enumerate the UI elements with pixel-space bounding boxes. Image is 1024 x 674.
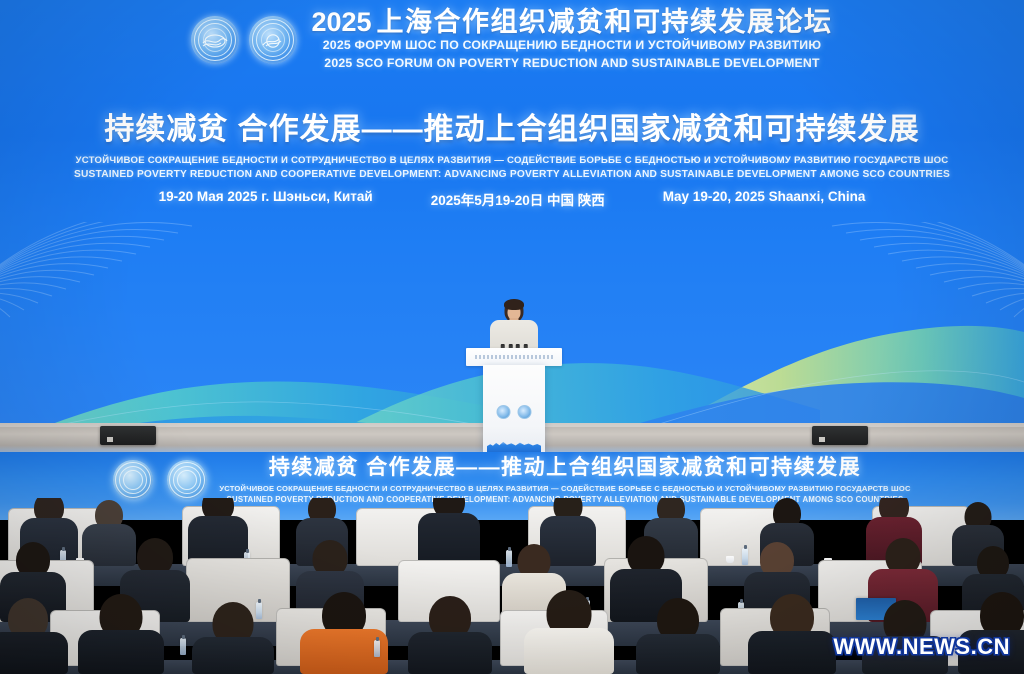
- audience-member: [188, 498, 248, 566]
- header-emblems: [191, 16, 297, 64]
- person-body: [748, 631, 836, 674]
- person-body: [408, 632, 492, 674]
- person-body: [192, 637, 274, 674]
- date-ru: 19-20 Мая 2025 г. Шэньси, Китай: [159, 189, 373, 209]
- lower-banner-emblems: [113, 460, 207, 500]
- audience-member: [300, 592, 388, 674]
- person-body: [78, 630, 164, 674]
- stage-speaker-box-right: [812, 426, 868, 445]
- audience-member: [192, 602, 274, 674]
- photo-canvas: 2025上海合作组织减贫和可持续发展论坛 2025 ФОРУМ ШОС ПО С…: [0, 0, 1024, 674]
- audience-member: [408, 596, 492, 674]
- podium-sco-emblem-icon: [497, 405, 511, 419]
- speaker-at-podium: [466, 300, 562, 452]
- lower-sco-emblem-icon: [113, 460, 153, 500]
- podium: [483, 365, 545, 452]
- date-en: May 19-20, 2025 Shaanxi, China: [663, 189, 866, 209]
- audience-member: [748, 594, 836, 674]
- header-title-ru: 2025 ФОРУМ ШОС ПО СОКРАЩЕНИЮ БЕДНОСТИ И …: [311, 37, 832, 55]
- person-body: [636, 634, 720, 674]
- led-header: 2025上海合作组织减贫和可持续发展论坛 2025 ФОРУМ ШОС ПО С…: [0, 8, 1024, 86]
- header-title-cn: 2025上海合作组织减贫和可持续发展论坛: [311, 8, 832, 37]
- podium-nameplate: [466, 348, 562, 366]
- stage-speaker-box-left: [100, 426, 156, 445]
- podium-forum-emblem-icon: [518, 405, 532, 419]
- person-body: [0, 632, 68, 674]
- lower-banner-theme-cn: 持续减贫 合作发展——推动上合组织国家减贫和可持续发展: [219, 456, 910, 480]
- sco-emblem-icon: [191, 16, 239, 64]
- news-watermark: WWW.NEWS.CN: [833, 634, 1010, 660]
- header-title-cn-text: 上海合作组织减贫和可持续发展论坛: [377, 7, 833, 37]
- lower-banner-theme-ru: УСТОЙЧИВОЕ СОКРАЩЕНИЕ БЕДНОСТИ И СОТРУДН…: [219, 484, 910, 493]
- water-bottle: [180, 638, 186, 655]
- forum-emblem-icon: [249, 16, 297, 64]
- led-theme-block: 持续减贫 合作发展——推动上合组织国家减贫和可持续发展 УСТОЙЧИВОЕ С…: [0, 112, 1024, 209]
- podium-skyline-graphic: [487, 439, 541, 452]
- audience-member: [78, 594, 164, 674]
- tea-cup: [726, 556, 734, 563]
- header-title-year: 2025: [311, 7, 371, 37]
- theme-title-ru: УСТОЙЧИВОЕ СОКРАЩЕНИЕ БЕДНОСТИ И СОТРУДН…: [0, 155, 1024, 166]
- speaker-hair: [504, 299, 524, 310]
- led-backdrop-screen: 2025上海合作组织减贫和可持续发展论坛 2025 ФОРУМ ШОС ПО С…: [0, 0, 1024, 452]
- theme-dates: 19-20 Мая 2025 г. Шэньси, Китай 2025年5月1…: [0, 189, 1024, 209]
- audience-member: [418, 498, 480, 566]
- theme-title-cn: 持续减贫 合作发展——推动上合组织国家减贫和可持续发展: [0, 112, 1024, 148]
- date-cn: 2025年5月19-20日 中国 陕西: [431, 189, 605, 209]
- person-body: [524, 628, 614, 674]
- audience-member: [524, 590, 614, 674]
- audience-member: [636, 598, 720, 674]
- water-bottle: [374, 640, 380, 657]
- person-body: [418, 513, 480, 566]
- lower-forum-emblem-icon: [167, 460, 207, 500]
- theme-title-en: SUSTAINED POVERTY REDUCTION AND COOPERAT…: [0, 169, 1024, 180]
- audience-member: [0, 598, 68, 674]
- audience-member: [958, 592, 1024, 674]
- podium-emblems: [497, 405, 532, 419]
- header-title-en: 2025 SCO FORUM ON POVERTY REDUCTION AND …: [311, 55, 832, 73]
